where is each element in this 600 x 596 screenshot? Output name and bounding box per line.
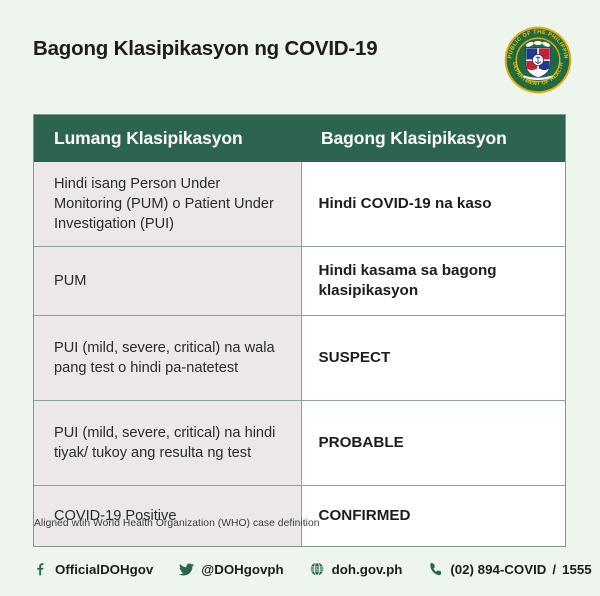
phone-icon xyxy=(428,562,443,577)
table-row: COVID-19 Positive CONFIRMED xyxy=(34,486,565,547)
cell-old-classification: PUM xyxy=(34,247,301,316)
cell-new-classification: Hindi kasama sa bagong klasipikasyon xyxy=(301,247,565,316)
cell-old-classification: Hindi isang Person Under Monitoring (PUM… xyxy=(34,162,301,247)
infographic-poster: Bagong Klasipikasyon ng COVID-19 REPUBLI… xyxy=(0,0,600,596)
page-title: Bagong Klasipikasyon ng COVID-19 xyxy=(33,37,377,61)
footer-label-website: doh.gov.ph xyxy=(332,562,403,577)
cell-old-classification: COVID-19 Positive xyxy=(34,486,301,547)
table-row: Hindi isang Person Under Monitoring (PUM… xyxy=(34,162,565,247)
doh-philippines-seal-icon: REPUBLIC OF THE PHILIPPINES DEPARTMENT O… xyxy=(504,26,572,94)
twitter-icon xyxy=(179,562,194,577)
footer-item-facebook[interactable]: OfficialDOHgov xyxy=(33,562,153,577)
table-row: PUI (mild, severe, critical) na hindi ti… xyxy=(34,401,565,486)
cell-old-classification: PUI (mild, severe, critical) na wala pan… xyxy=(34,316,301,401)
facebook-icon xyxy=(33,562,48,577)
column-header-old-classification: Lumang Klasipikasyon xyxy=(34,115,301,162)
globe-icon xyxy=(310,562,325,577)
cell-old-classification: PUI (mild, severe, critical) na hindi ti… xyxy=(34,401,301,486)
footer-label-hotline: (02) 894-COVID xyxy=(450,562,546,577)
table-header-row: Lumang Klasipikasyon Bagong Klasipikasyo… xyxy=(34,115,565,162)
classification-table: Lumang Klasipikasyon Bagong Klasipikasyo… xyxy=(33,114,566,547)
footer-item-website[interactable]: doh.gov.ph xyxy=(310,562,403,577)
footer-hotline-separator: / xyxy=(552,562,556,577)
contact-footer: OfficialDOHgov @DOHgovph doh.gov.ph xyxy=(0,542,600,596)
cell-new-classification: CONFIRMED xyxy=(301,486,565,547)
footer-item-hotline[interactable]: (02) 894-COVID / 1555 xyxy=(428,562,591,577)
column-header-new-classification: Bagong Klasipikasyon xyxy=(301,115,565,162)
cell-new-classification: PROBABLE xyxy=(301,401,565,486)
header: Bagong Klasipikasyon ng COVID-19 REPUBLI… xyxy=(0,0,600,110)
footer-label-facebook: OfficialDOHgov xyxy=(55,562,153,577)
footer-item-twitter[interactable]: @DOHgovph xyxy=(179,562,283,577)
footer-label-hotline-alt: 1555 xyxy=(562,562,592,577)
footer-label-twitter: @DOHgovph xyxy=(201,562,283,577)
table-row: PUI (mild, severe, critical) na wala pan… xyxy=(34,316,565,401)
table-row: PUM Hindi kasama sa bagong klasipikasyon xyxy=(34,247,565,316)
cell-new-classification: SUSPECT xyxy=(301,316,565,401)
source-footnote: Aligned wtih World Health Organization (… xyxy=(34,518,320,529)
cell-new-classification: Hindi COVID-19 na kaso xyxy=(301,162,565,247)
